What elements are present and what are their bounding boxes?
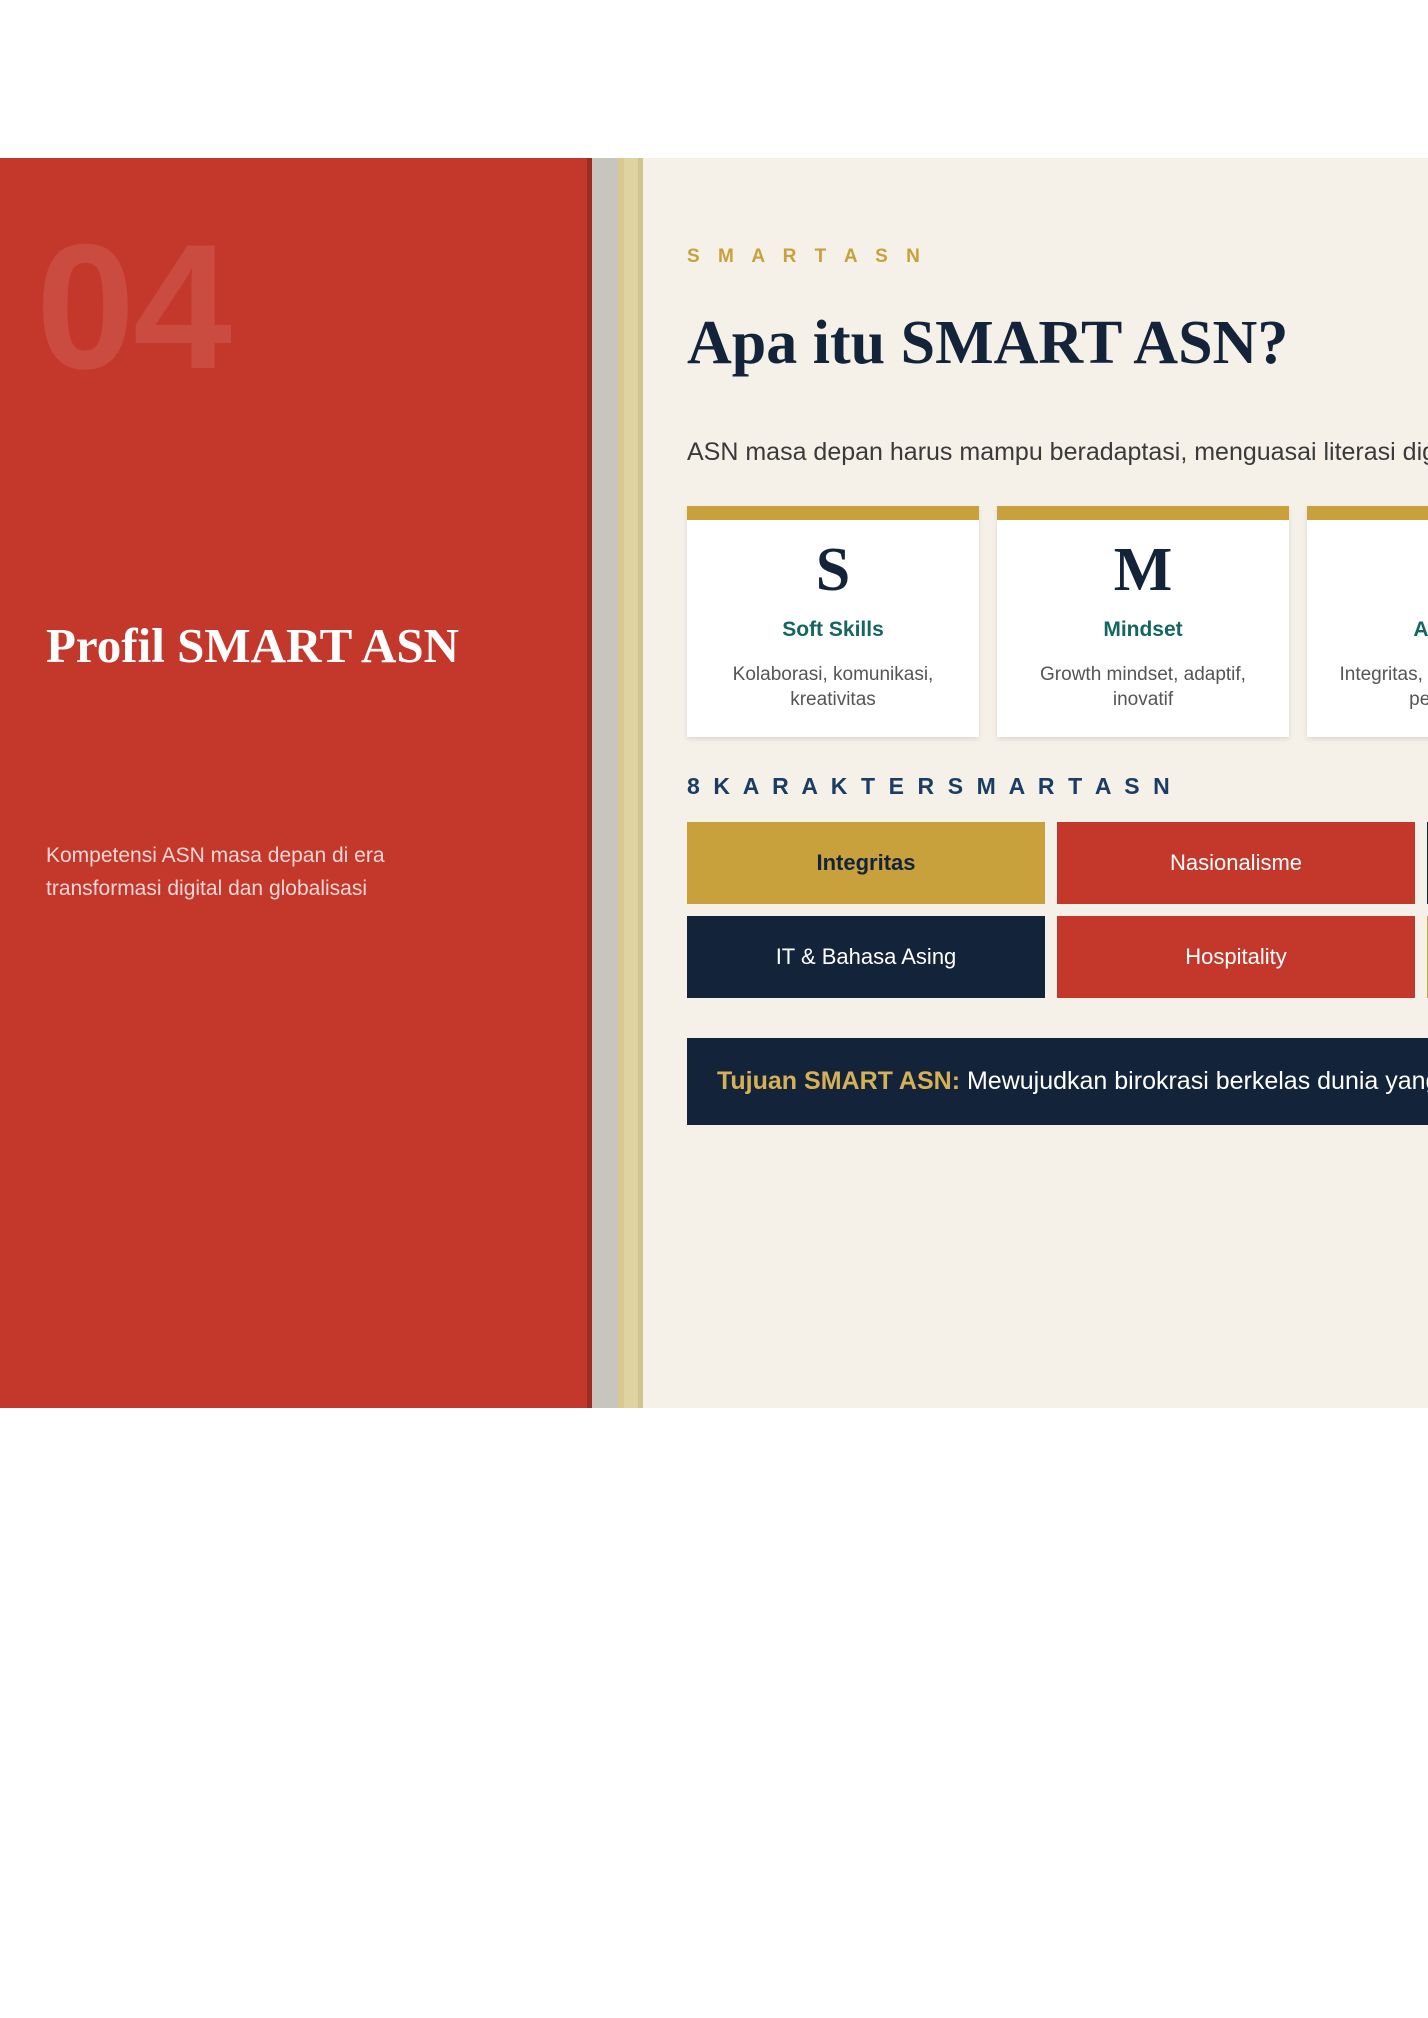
characters-grid: Integritas Nasionalisme Profesionalisme … <box>687 822 1428 998</box>
letter-glyph: S <box>701 538 965 603</box>
letter-card-description: Integritas, profesionalisme, pelayanan <box>1321 662 1428 713</box>
letter-glyph: M <box>1011 538 1275 603</box>
left-panel-title: Profil SMART ASN <box>46 618 566 674</box>
character-tag-integritas: Integritas <box>687 822 1045 904</box>
letter-card-name: Soft Skills <box>701 618 965 642</box>
divider-stripe-gold-middle <box>624 158 638 1408</box>
eyebrow-label: S M A R T A S N <box>687 246 1428 268</box>
letter-glyph: A <box>1321 538 1428 603</box>
lead-paragraph: ASN masa depan harus mampu beradaptasi, … <box>687 435 1428 471</box>
character-tag-hospitality: Hospitality <box>1057 916 1415 998</box>
characters-section-heading: 8 K A R A K T E R S M A R T A S N <box>687 773 1428 800</box>
presentation-slide: 04 Profil SMART ASN Kompetensi ASN masa … <box>0 158 1428 1408</box>
slide-stage: 04 Profil SMART ASN Kompetensi ASN masa … <box>0 0 1428 2018</box>
letter-card-a: A Attitude Integritas, profesionalisme, … <box>1307 506 1428 736</box>
callout-body: Mewujudkan birokrasi berkelas dunia yang… <box>960 1067 1428 1095</box>
slide-number-watermark: 04 <box>36 218 230 396</box>
letter-card-name: Attitude <box>1321 618 1428 642</box>
panel-divider <box>587 158 643 1408</box>
character-tag-nasionalisme: Nasionalisme <box>1057 822 1415 904</box>
left-panel-subtitle: Kompetensi ASN masa depan di era transfo… <box>46 840 486 905</box>
letter-cards-row: S Soft Skills Kolaborasi, komunikasi, kr… <box>687 506 1428 736</box>
goal-callout-box: Tujuan SMART ASN: Mewujudkan birokrasi b… <box>687 1038 1428 1126</box>
letter-card-name: Mindset <box>1011 618 1275 642</box>
letter-card-description: Growth mindset, adaptif, inovatif <box>1011 662 1275 713</box>
letter-card-m: M Mindset Growth mindset, adaptif, inova… <box>997 506 1289 736</box>
character-tag-it-bahasa-asing: IT & Bahasa Asing <box>687 916 1045 998</box>
left-red-panel: 04 Profil SMART ASN Kompetensi ASN masa … <box>0 158 587 1408</box>
letter-card-description: Kolaborasi, komunikasi, kreativitas <box>701 662 965 713</box>
page-title: Apa itu SMART ASN? <box>687 310 1428 377</box>
callout-label: Tujuan SMART ASN: <box>717 1067 960 1095</box>
right-content-panel: S M A R T A S N Apa itu SMART ASN? ASN m… <box>643 158 1428 1408</box>
divider-stripe-gray <box>592 158 618 1408</box>
letter-card-s: S Soft Skills Kolaborasi, komunikasi, kr… <box>687 506 979 736</box>
